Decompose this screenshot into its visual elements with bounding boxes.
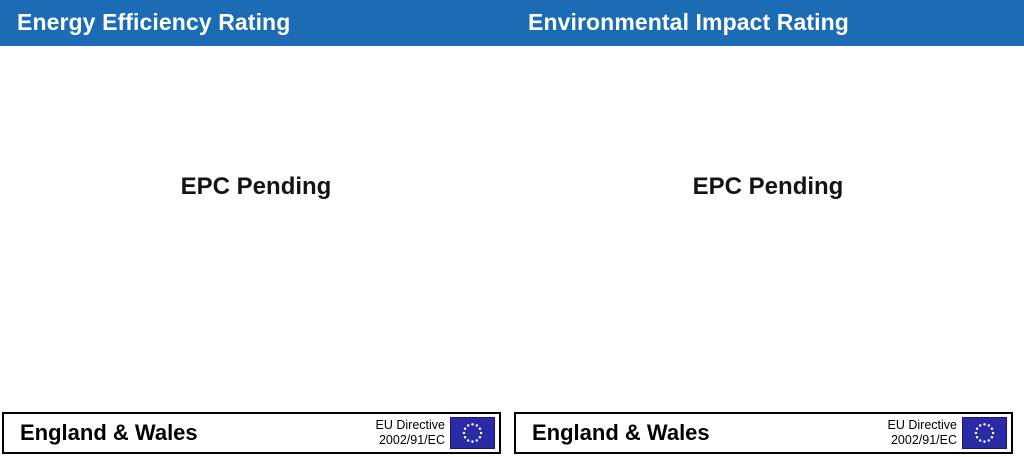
eu-flag-icon	[962, 417, 1007, 449]
eu-flag-icon	[450, 417, 495, 449]
environmental-impact-panel: EPC Pending	[512, 46, 1024, 412]
eu-directive-block: EU Directive 2002/91/EC	[888, 416, 957, 450]
energy-efficiency-rating-title: Energy Efficiency Rating	[17, 0, 290, 46]
region-label: England & Wales	[20, 414, 198, 452]
eu-directive-line-1: EU Directive	[376, 418, 445, 433]
environmental-impact-status-text: EPC Pending	[512, 46, 1024, 412]
eu-directive-line-2: 2002/91/EC	[379, 433, 445, 448]
energy-efficiency-panel: EPC Pending	[0, 46, 512, 412]
epc-rating-graphic: Energy Efficiency Rating Environmental I…	[0, 0, 1024, 457]
eu-directive-line-2: 2002/91/EC	[891, 433, 957, 448]
eu-directive-line-1: EU Directive	[888, 418, 957, 433]
environmental-impact-rating-title: Environmental Impact Rating	[528, 0, 849, 46]
energy-efficiency-status-text: EPC Pending	[0, 46, 512, 412]
eu-directive-block: EU Directive 2002/91/EC	[376, 416, 445, 450]
footer-energy-efficiency: England & Wales EU Directive 2002/91/EC	[2, 412, 501, 454]
header-band: Energy Efficiency Rating Environmental I…	[0, 0, 1024, 46]
footer-environmental-impact: England & Wales EU Directive 2002/91/EC	[514, 412, 1013, 454]
region-label: England & Wales	[532, 414, 710, 452]
rating-panels: EPC Pending EPC Pending	[0, 46, 1024, 412]
